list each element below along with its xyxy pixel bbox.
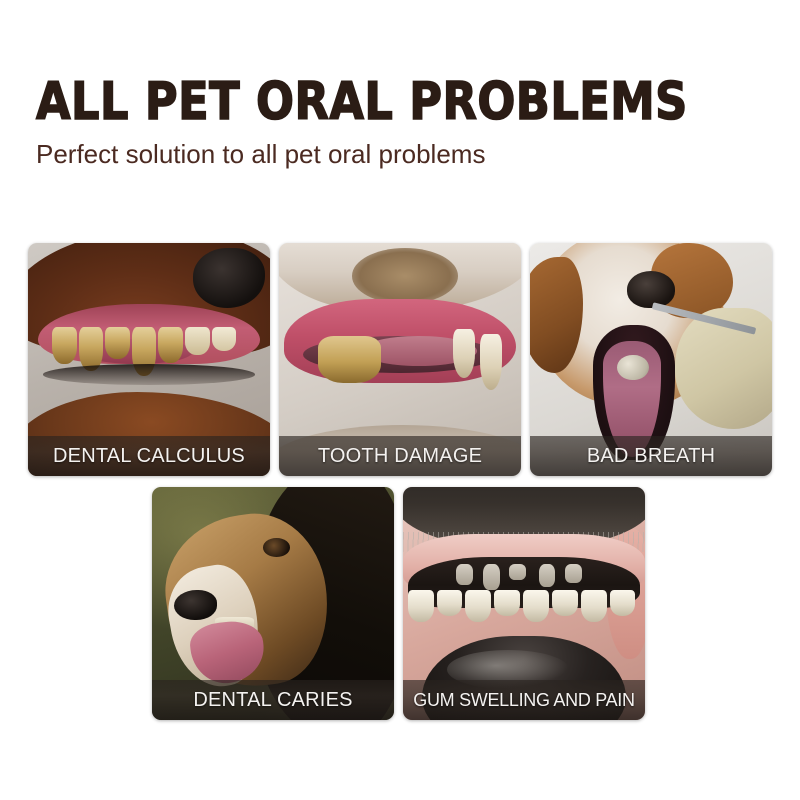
lip-line-shape	[43, 364, 256, 385]
problem-card-gum-swelling-and-pain[interactable]: GUM SWELLING AND PAIN	[403, 487, 645, 720]
header: ALL PET ORAL PROBLEMS Perfect solution t…	[36, 74, 766, 170]
dog-nose-shape	[627, 271, 675, 308]
problem-card-tooth-damage[interactable]: TOOTH DAMAGE	[279, 243, 521, 476]
canine-tooth-shape	[480, 334, 502, 390]
page-title: ALL PET ORAL PROBLEMS	[36, 74, 664, 130]
dental-mirror-shape	[617, 355, 648, 381]
canine-tooth-shape	[453, 329, 475, 378]
tartar-deposit-shape	[539, 564, 556, 587]
tartar-deposit-shape	[565, 564, 582, 583]
tartar-deposit-shape	[456, 564, 473, 585]
problem-card-dental-caries[interactable]: DENTAL CARIES	[152, 487, 394, 720]
problem-card-bad-breath[interactable]: BAD BREATH	[530, 243, 772, 476]
card-caption: TOOTH DAMAGE	[279, 436, 521, 476]
tartar-deposit-shape	[509, 564, 526, 580]
infographic-page: ALL PET ORAL PROBLEMS Perfect solution t…	[0, 0, 800, 800]
dog-nose-shape	[174, 590, 218, 620]
card-caption: BAD BREATH	[530, 436, 772, 476]
page-subtitle: Perfect solution to all pet oral problem…	[36, 138, 766, 170]
dog-eye-shape	[263, 538, 290, 557]
tartar-deposit-shape	[318, 336, 381, 383]
teeth-row-shape	[408, 590, 635, 627]
card-caption: DENTAL CALCULUS	[28, 436, 270, 476]
card-caption: GUM SWELLING AND PAIN	[403, 680, 645, 720]
card-caption: DENTAL CARIES	[152, 680, 394, 720]
problem-grid-row-bottom: DENTAL CARIES GUM SWELLING AND PAIN	[152, 487, 648, 720]
tartar-deposit-shape	[483, 564, 500, 590]
problem-grid-row-top: DENTAL CALCULUS TOOTH DAMAGE	[28, 243, 772, 476]
problem-card-dental-calculus[interactable]: DENTAL CALCULUS	[28, 243, 270, 476]
